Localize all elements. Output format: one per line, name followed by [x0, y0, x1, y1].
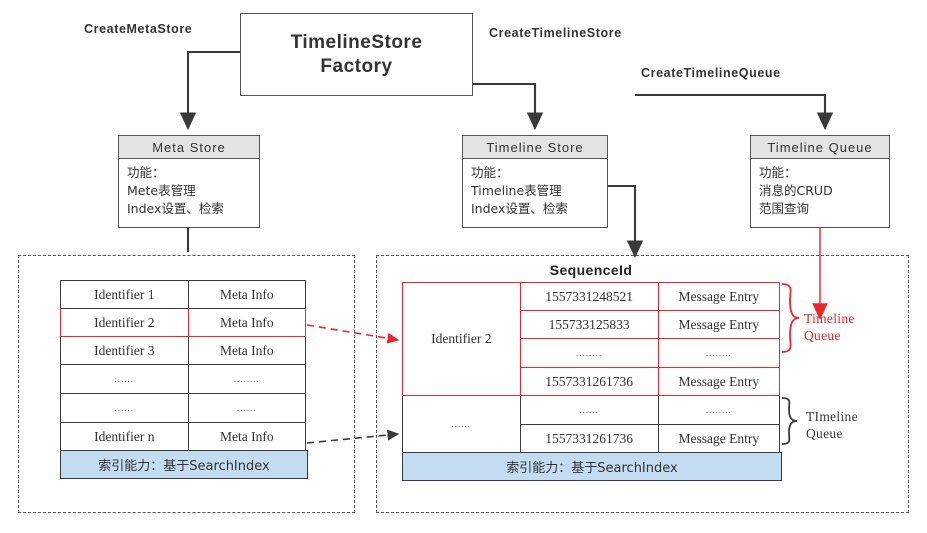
timeline-store-title: Timeline Store: [463, 136, 607, 159]
diagram-canvas: CreateMetaStore CreateTimelineStore Crea…: [0, 0, 927, 533]
message-entry-cell: ........: [658, 396, 779, 425]
table-row[interactable]: Identifier 2 Meta Info: [61, 309, 306, 337]
timeline-queue-label-dark-line2: Queue: [806, 425, 858, 442]
label-create-timeline-store: CreateTimelineStore: [489, 26, 622, 40]
timeline-queue-body-line1: 功能：: [759, 164, 881, 182]
meta-store-body-line3: Index设置、检索: [127, 200, 251, 218]
timeline-store-factory-box[interactable]: TimelineStore Factory: [240, 13, 473, 96]
meta-table-wrapper: Identifier 1 Meta Info Identifier 2 Meta…: [60, 280, 308, 479]
meta-store-body-line2: Mete表管理: [127, 182, 251, 200]
timeline-queue-title: Timeline Queue: [751, 136, 889, 159]
meta-identifier-cell: Identifier 1: [61, 281, 189, 309]
timeline-queue-label-red-line2: Queue: [804, 327, 855, 344]
message-entry-cell: ........: [658, 339, 779, 368]
timeline-queue-box[interactable]: Timeline Queue 功能： 消息的CRUD 范围查询: [750, 135, 890, 228]
timeline-group2-identifier: ......: [403, 396, 521, 453]
meta-table[interactable]: Identifier 1 Meta Info Identifier 2 Meta…: [60, 280, 306, 451]
table-row[interactable]: Identifier 3 Meta Info: [61, 337, 306, 365]
sequence-id-cell: 1557331261736: [520, 425, 658, 453]
timeline-table-wrapper: Identifier 2 1557331248521 Message Entry…: [402, 282, 782, 481]
meta-identifier-cell: ......: [61, 365, 189, 394]
sequence-id-cell: 1557331248521: [520, 283, 658, 311]
timeline-store-body: 功能： Timeline表管理 Index设置、检索: [463, 159, 607, 221]
timeline-queue-body-line3: 范围查询: [759, 200, 881, 218]
timeline-queue-label-dark: TImeline Queue: [806, 408, 858, 443]
meta-store-box[interactable]: Meta Store 功能： Mete表管理 Index设置、检索: [118, 135, 260, 228]
message-entry-cell: Message Entry: [658, 368, 779, 396]
meta-store-body-line1: 功能：: [127, 164, 251, 182]
timeline-index-bar: 索引能力：基于SearchIndex: [402, 452, 782, 481]
meta-info-cell: Meta Info: [188, 281, 305, 309]
factory-title-line2: Factory: [291, 55, 423, 79]
meta-identifier-cell: ......: [61, 394, 189, 423]
meta-index-bar: 索引能力：基于SearchIndex: [60, 450, 308, 479]
timeline-store-body-line1: 功能：: [471, 164, 599, 182]
message-entry-cell: Message Entry: [658, 311, 779, 339]
table-row[interactable]: ...... ...... ........: [403, 396, 780, 425]
meta-store-title: Meta Store: [119, 136, 259, 159]
meta-info-cell: ........: [188, 365, 305, 394]
timeline-queue-label-red: Timeline Queue: [804, 310, 855, 345]
label-create-timeline-queue: CreateTimelineQueue: [641, 66, 781, 80]
table-row[interactable]: Identifier 2 1557331248521 Message Entry: [403, 283, 780, 311]
factory-title-line1: TimelineStore: [291, 31, 423, 55]
sequence-id-cell: 155733125833: [520, 311, 658, 339]
meta-info-cell: ......: [188, 394, 305, 423]
sequence-id-cell: ........: [520, 339, 658, 368]
meta-identifier-cell: Identifier n: [61, 423, 189, 451]
timeline-store-box[interactable]: Timeline Store 功能： Timeline表管理 Index设置、检…: [462, 135, 608, 228]
meta-table-body: Identifier 1 Meta Info Identifier 2 Meta…: [61, 281, 306, 451]
meta-identifier-cell: Identifier 3: [61, 337, 189, 365]
meta-info-cell: Meta Info: [188, 423, 305, 451]
message-entry-cell: Message Entry: [658, 283, 779, 311]
timeline-table-body: Identifier 2 1557331248521 Message Entry…: [403, 283, 780, 453]
sequence-id-cell: ......: [520, 396, 658, 425]
label-create-meta-store: CreateMetaStore: [84, 22, 192, 36]
timeline-queue-label-dark-line1: TImeline: [806, 408, 858, 425]
timeline-store-body-line2: Timeline表管理: [471, 182, 599, 200]
timeline-group1-identifier: Identifier 2: [403, 283, 521, 396]
timeline-store-body-line3: Index设置、检索: [471, 200, 599, 218]
message-entry-cell: Message Entry: [658, 425, 779, 453]
meta-info-cell: Meta Info: [188, 337, 305, 365]
table-row[interactable]: Identifier 1 Meta Info: [61, 281, 306, 309]
timeline-queue-body-line2: 消息的CRUD: [759, 182, 881, 200]
meta-store-body: 功能： Mete表管理 Index设置、检索: [119, 159, 259, 221]
table-row[interactable]: Identifier n Meta Info: [61, 423, 306, 451]
sequence-id-header: SequenceId: [402, 262, 780, 278]
table-row[interactable]: ...... ........: [61, 365, 306, 394]
timeline-queue-label-red-line1: Timeline: [804, 310, 855, 327]
meta-info-cell: Meta Info: [188, 309, 305, 337]
timeline-queue-body: 功能： 消息的CRUD 范围查询: [751, 159, 889, 221]
meta-identifier-cell: Identifier 2: [61, 309, 189, 337]
timeline-table[interactable]: Identifier 2 1557331248521 Message Entry…: [402, 282, 780, 453]
sequence-id-cell: 1557331261736: [520, 368, 658, 396]
table-row[interactable]: ...... ......: [61, 394, 306, 423]
